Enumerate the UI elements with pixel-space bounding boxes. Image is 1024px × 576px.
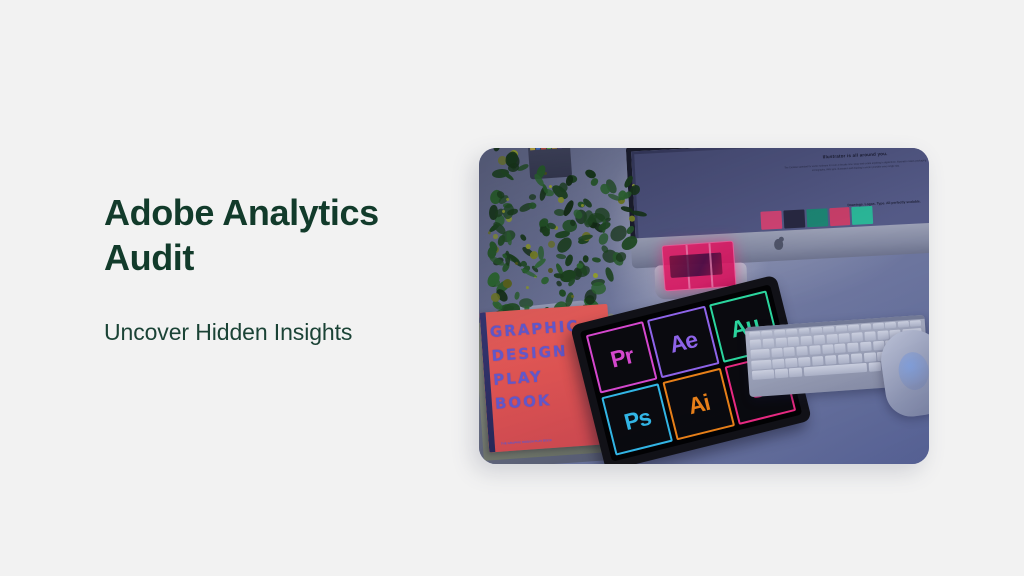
plant-leaf [553, 273, 563, 278]
plant-leaf [508, 163, 519, 172]
plant-leaf [598, 232, 610, 245]
plant-bud [514, 261, 518, 265]
adobe-icon-after-effects: Ae [647, 306, 719, 379]
plant-bud [492, 234, 497, 239]
plant-bud [592, 272, 598, 278]
text-column: Adobe Analytics Audit Uncover Hidden Ins… [104, 190, 464, 347]
adobe-icon-illustrator: Ai [663, 368, 735, 441]
book-cover-footnote: THE GRAPHIC DESIGN PLAY BOOK [501, 437, 561, 446]
plant-leaf [582, 197, 593, 209]
plant-leaf [554, 235, 575, 255]
plant-leaf [620, 205, 633, 212]
plant-bud [526, 285, 531, 290]
plant-leaf [566, 175, 574, 186]
plant-leaf [592, 257, 602, 263]
hero-image: Illustrator is all around you. The Creat… [479, 148, 929, 464]
plant-bud [547, 240, 555, 248]
pink-plastic-box [661, 241, 736, 292]
plant-leaf [533, 257, 547, 269]
plant-bud [571, 294, 574, 297]
plant-leaf [497, 234, 506, 246]
plant-leaf [540, 276, 550, 285]
plant-bud [525, 243, 531, 249]
plant-bud [557, 197, 563, 203]
page-title: Adobe Analytics Audit [104, 190, 464, 280]
apple-logo-icon [773, 239, 783, 250]
desk-photo: Illustrator is all around you. The Creat… [479, 148, 929, 464]
adobe-icon-premiere-pro: Pr [586, 321, 658, 394]
adobe-icon-photoshop: Ps [601, 383, 673, 456]
plant-leaf [558, 290, 566, 298]
slide-root: Adobe Analytics Audit Uncover Hidden Ins… [0, 0, 1024, 576]
plant-leaf [542, 227, 551, 237]
page-subtitle: Uncover Hidden Insights [104, 280, 464, 347]
plant-bud [547, 267, 554, 274]
imac-body-text: The Creative standard for vector softwar… [782, 159, 929, 174]
plant-leaf [492, 148, 501, 153]
plant-leaf [520, 233, 527, 241]
plant-leaf [528, 194, 536, 202]
plant-bud [629, 216, 635, 222]
